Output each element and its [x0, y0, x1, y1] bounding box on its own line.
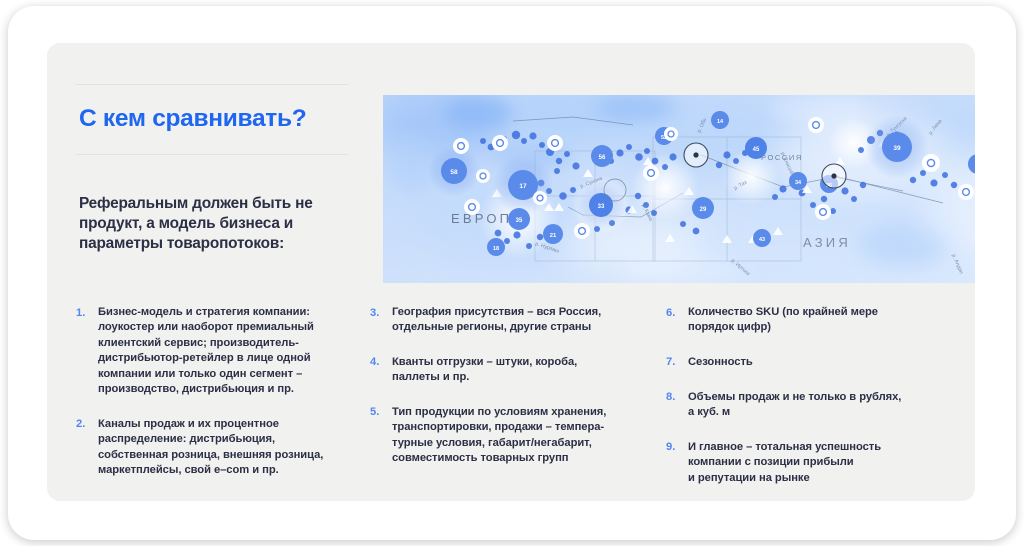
list-item: 8. Объемы продаж и не только в рублях, а…: [666, 390, 940, 421]
svg-text:29: 29: [700, 207, 707, 213]
list-item-text: И главное – тотальная успешность компани…: [688, 440, 881, 486]
list-item: 3. География присутствия – вся Россия, о…: [370, 305, 650, 336]
list-column-3: 6. Количество SKU (по крайней мере поряд…: [666, 305, 956, 486]
list-column-2: 3. География присутствия – вся Россия, о…: [370, 305, 666, 486]
page-title: С кем сравнивать?: [76, 85, 348, 154]
svg-text:АЗИЯ: АЗИЯ: [803, 235, 851, 250]
svg-text:21: 21: [550, 233, 557, 239]
criteria-list: 1. Бизнес-модель и стратегия компании: л…: [76, 305, 956, 486]
map-svg: ЕВРОПА РОССИЯ АЗИЯ р. Сухона р. Кама р. …: [383, 95, 975, 283]
svg-text:35: 35: [516, 218, 523, 224]
list-item: 5. Тип продукции по условиям хранения, т…: [370, 405, 650, 467]
svg-text:33: 33: [598, 204, 605, 210]
svg-text:58: 58: [450, 169, 458, 176]
list-item-text: Кванты отгрузки – штуки, короба, паллеты…: [392, 355, 577, 386]
slide-card: С кем сравнивать? Реферальным должен быт…: [47, 43, 975, 501]
svg-text:43: 43: [759, 237, 765, 243]
list-item: 1. Бизнес-модель и стратегия компании: л…: [76, 305, 354, 398]
list-item-number: 5.: [370, 405, 392, 421]
list-item-text: Каналы продаж и их процентное распределе…: [98, 417, 323, 479]
list-item: 9. И главное – тотальная успешность комп…: [666, 440, 940, 486]
list-item-number: 3.: [370, 305, 392, 321]
list-item-number: 7.: [666, 355, 688, 371]
list-item-text: Объемы продаж и не только в рублях, а ку…: [688, 390, 901, 421]
list-item-number: 1.: [76, 305, 98, 321]
list-item-number: 8.: [666, 390, 688, 406]
list-column-1: 1. Бизнес-модель и стратегия компании: л…: [76, 305, 370, 486]
svg-text:39: 39: [893, 145, 901, 152]
list-item-text: Тип продукции по условиям хранения, тран…: [392, 405, 606, 467]
list-item: 6. Количество SKU (по крайней мере поряд…: [666, 305, 940, 336]
lead-paragraph: Реферальным должен быть не продукт, а мо…: [76, 194, 348, 255]
slide-header-block: С кем сравнивать? Реферальным должен быт…: [76, 84, 348, 255]
list-item-text: География присутствия – вся Россия, отде…: [392, 305, 601, 336]
list-item: 7. Сезонность: [666, 355, 940, 371]
svg-text:34: 34: [795, 180, 802, 186]
list-item-text: Сезонность: [688, 355, 753, 370]
svg-text:18: 18: [493, 246, 499, 252]
list-item-number: 2.: [76, 417, 98, 433]
svg-text:14: 14: [717, 119, 724, 125]
list-item-number: 4.: [370, 355, 392, 371]
divider-bottom: [76, 154, 348, 155]
list-item-number: 6.: [666, 305, 688, 321]
svg-text:45: 45: [753, 147, 760, 153]
list-item: 4. Кванты отгрузки – штуки, короба, палл…: [370, 355, 650, 386]
slide-frame: С кем сравнивать? Реферальным должен быт…: [8, 6, 1016, 540]
list-item-text: Количество SKU (по крайней мере порядок …: [688, 305, 878, 336]
svg-text:17: 17: [519, 183, 527, 190]
list-item-text: Бизнес-модель и стратегия компании: лоук…: [98, 305, 314, 398]
map-image: ЕВРОПА РОССИЯ АЗИЯ р. Сухона р. Кама р. …: [383, 95, 975, 283]
list-item-number: 9.: [666, 440, 688, 456]
list-item: 2. Каналы продаж и их процентное распред…: [76, 417, 354, 479]
svg-text:56: 56: [599, 155, 606, 161]
